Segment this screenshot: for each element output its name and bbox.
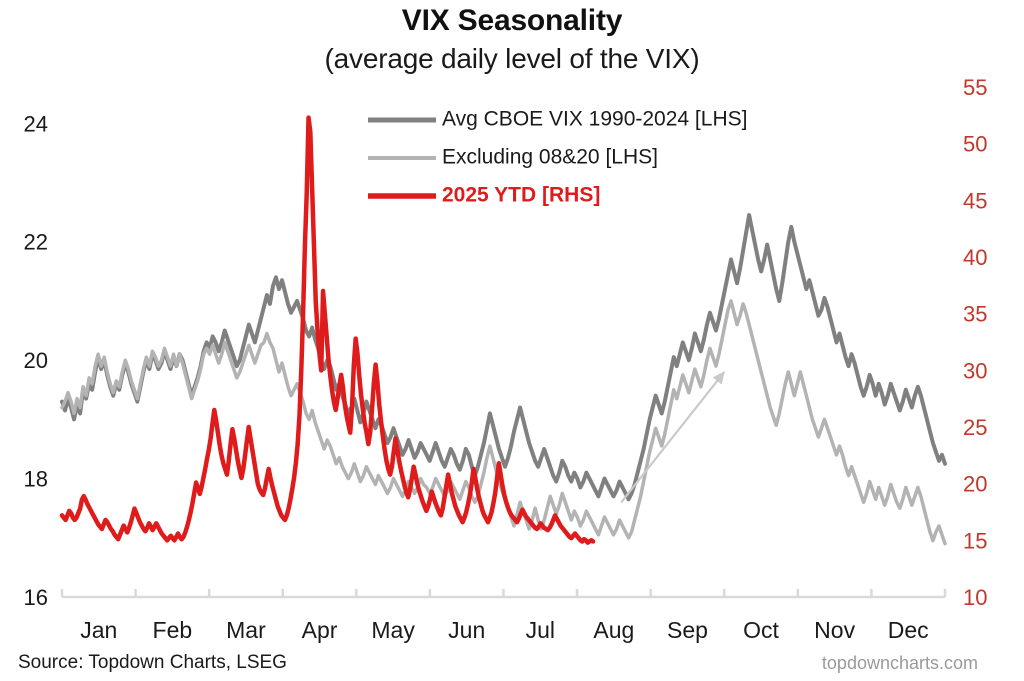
watermark: topdowncharts.com (822, 653, 978, 674)
x-tick-label-aug: Aug (593, 617, 634, 643)
chart-legend: Avg CBOE VIX 1990-2024 [LHS]Excluding 08… (368, 108, 747, 207)
x-tick-label-apr: Apr (302, 617, 338, 643)
left-tick-label-16: 16 (24, 585, 48, 610)
right-tick-label-20: 20 (963, 472, 987, 497)
axis-group (62, 589, 945, 597)
left-tick-label-20: 20 (24, 348, 48, 373)
right-tick-label-55: 55 (963, 75, 987, 100)
x-tick-label-jun: Jun (448, 617, 485, 643)
left-tick-label-22: 22 (24, 230, 48, 255)
right-tick-label-10: 10 (963, 585, 987, 610)
right-tick-label-40: 40 (963, 245, 987, 270)
left-tick-label-18: 18 (24, 467, 48, 492)
source-note: Source: Topdown Charts, LSEG (18, 652, 287, 674)
series-lines (62, 118, 945, 544)
right-tick-label-25: 25 (963, 415, 987, 440)
left-axis-tick-labels: 1618202224 (24, 111, 48, 610)
right-tick-label-35: 35 (963, 302, 987, 327)
x-tick-label-mar: Mar (226, 617, 266, 643)
legend-label-0: Avg CBOE VIX 1990-2024 [LHS] (442, 108, 747, 131)
x-tick-label-feb: Feb (153, 617, 193, 643)
x-axis-tick-labels: JanFebMarAprMayJunJulAugSepOctNovDec (80, 617, 928, 643)
x-tick-label-dec: Dec (888, 617, 929, 643)
left-tick-label-24: 24 (24, 111, 48, 136)
x-tick-label-may: May (371, 617, 415, 643)
right-tick-label-45: 45 (963, 188, 987, 213)
right-tick-label-50: 50 (963, 132, 987, 157)
x-tick-label-sep: Sep (667, 617, 708, 643)
right-tick-label-30: 30 (963, 358, 987, 383)
right-axis-tick-labels: 10152025303540455055 (963, 75, 987, 610)
series-line-1 (62, 301, 945, 544)
legend-label-1: Excluding 08&20 [LHS] (442, 146, 658, 169)
series-line-2 (62, 118, 593, 543)
x-tick-label-oct: Oct (743, 617, 779, 643)
right-tick-label-15: 15 (963, 528, 987, 553)
chart-plot-area: 1618202224 10152025303540455055 JanFebMa… (0, 0, 1024, 681)
x-tick-label-jan: Jan (80, 617, 117, 643)
series-line-0 (62, 215, 945, 499)
legend-label-2: 2025 YTD [RHS] (442, 184, 600, 207)
x-tick-label-nov: Nov (814, 617, 855, 643)
x-tick-label-jul: Jul (526, 617, 555, 643)
chart-container: VIX Seasonality (average daily level of … (0, 0, 1024, 681)
